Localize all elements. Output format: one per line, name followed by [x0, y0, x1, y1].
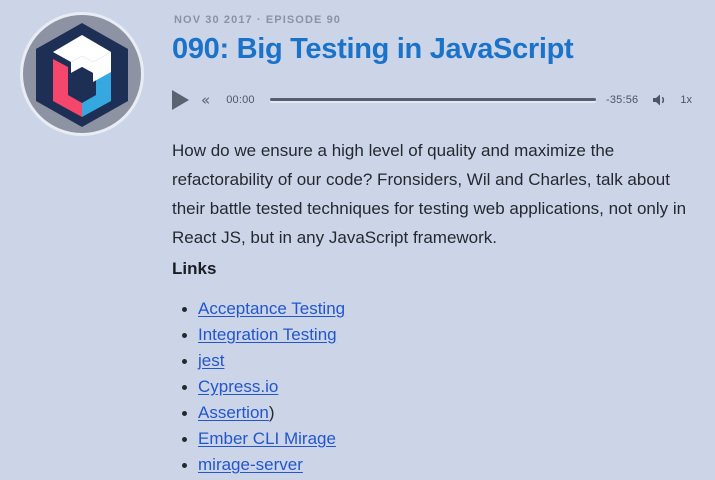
- list-item: Integration Testing: [198, 322, 698, 348]
- list-item: Acceptance Testing: [198, 296, 698, 322]
- link-item-6[interactable]: mirage-server: [198, 455, 303, 474]
- rewind-button[interactable]: «: [201, 93, 209, 108]
- playback-speed-button[interactable]: 1x: [680, 94, 692, 106]
- link-suffix-4: ): [269, 403, 275, 422]
- list-item: mirage-server: [198, 452, 698, 478]
- episode-page: NOV 30 2017 · EPISODE 90 090: Big Testin…: [0, 0, 715, 480]
- link-item-1[interactable]: Integration Testing: [198, 325, 337, 344]
- play-button[interactable]: [172, 88, 194, 112]
- progress-slider[interactable]: [270, 97, 596, 103]
- volume-icon: [652, 93, 668, 107]
- volume-button[interactable]: [652, 92, 668, 108]
- list-item: jest: [198, 348, 698, 374]
- audio-player: « 00:00 -35:56 1x: [172, 86, 692, 114]
- artwork-ring: [20, 12, 144, 136]
- list-item: Ember CLI Mirage: [198, 426, 698, 452]
- play-icon: [172, 90, 189, 110]
- link-item-0[interactable]: Acceptance Testing: [198, 299, 345, 318]
- episode-artwork[interactable]: [20, 12, 144, 136]
- list-item: Assertion): [198, 400, 698, 426]
- link-item-3[interactable]: Cypress.io: [198, 377, 278, 396]
- link-item-4[interactable]: Assertion: [198, 403, 269, 422]
- links-heading: Links: [172, 259, 216, 279]
- remaining-time: -35:56: [606, 94, 638, 106]
- progress-track: [270, 98, 596, 101]
- episode-description: How do we ensure a high level of quality…: [172, 136, 692, 252]
- episode-title[interactable]: 090: Big Testing in JavaScript: [172, 32, 573, 66]
- link-item-5[interactable]: Ember CLI Mirage: [198, 429, 336, 448]
- episode-meta: NOV 30 2017 · EPISODE 90: [174, 14, 341, 26]
- link-item-2[interactable]: jest: [198, 351, 224, 370]
- list-item: Cypress.io: [198, 374, 698, 400]
- elapsed-time: 00:00: [226, 94, 258, 106]
- links-list: Acceptance TestingIntegration Testingjes…: [172, 296, 698, 478]
- frontside-cube-logo-icon: [23, 15, 141, 133]
